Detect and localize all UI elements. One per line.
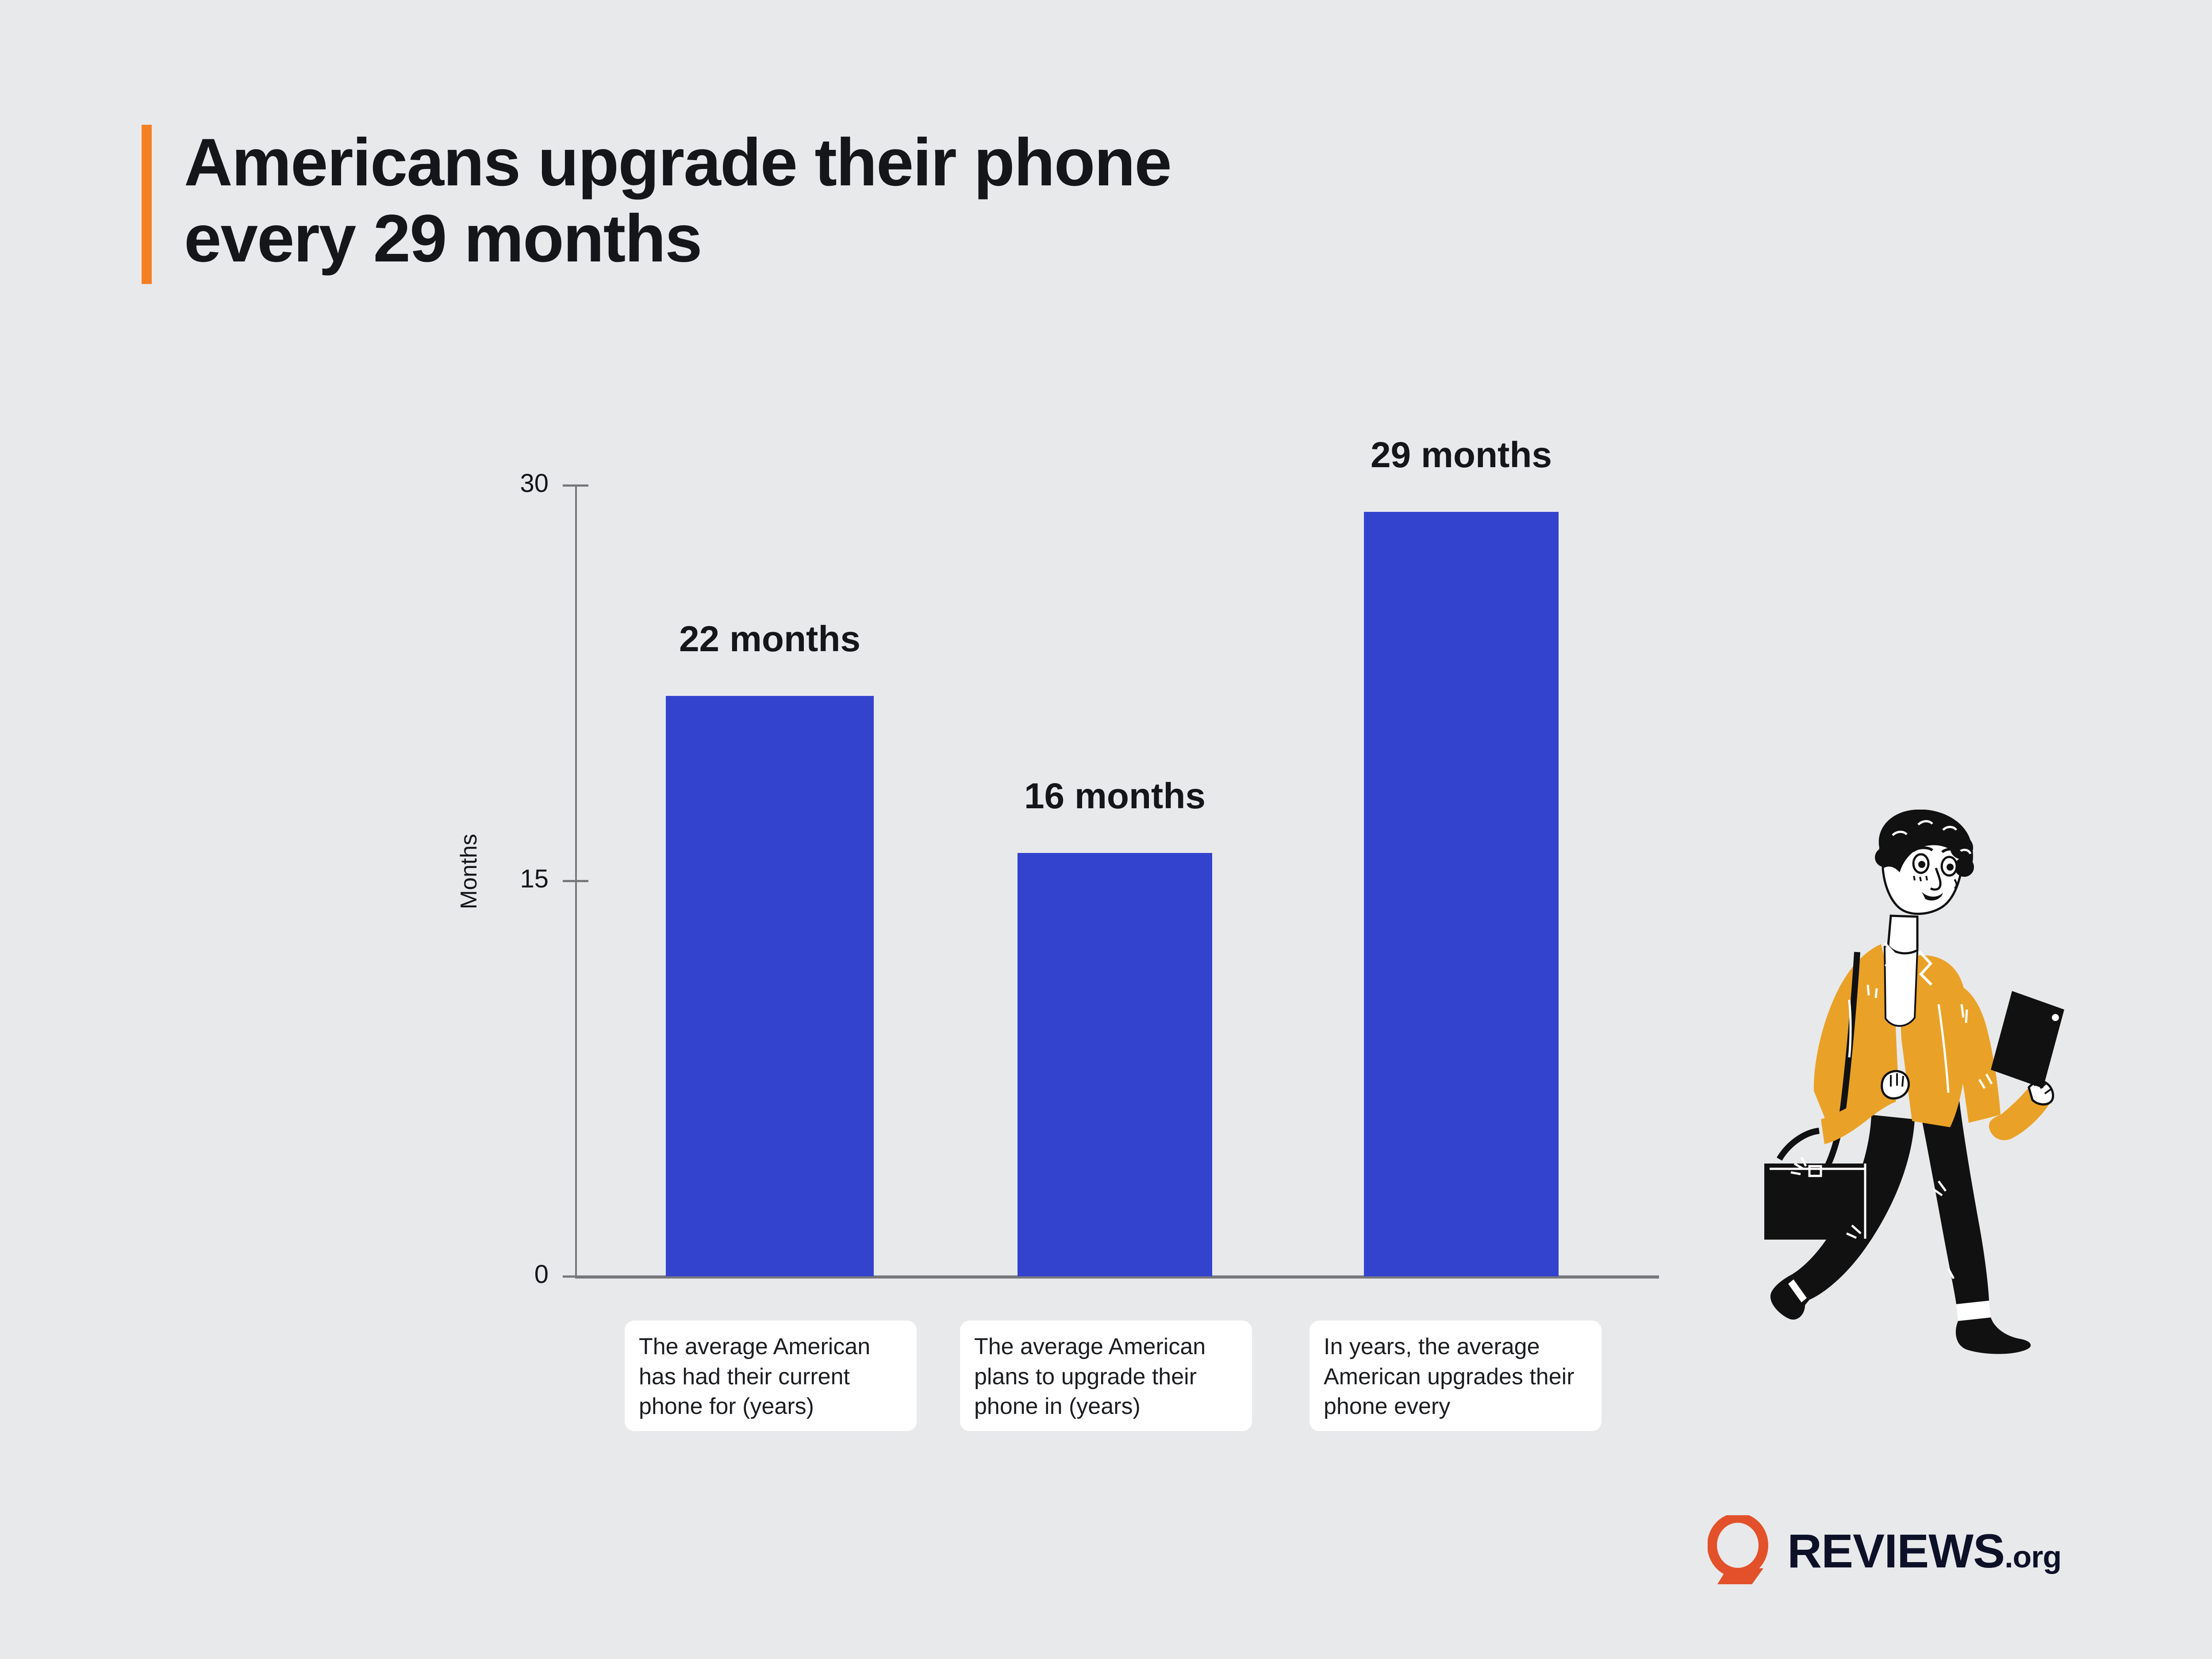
logo-q-mark [1708, 1515, 1774, 1586]
bar-3[interactable] [1364, 512, 1559, 1276]
person-with-phone-illustration [1739, 810, 2075, 1365]
logo-reviews-text: REVIEWS [1787, 1523, 2005, 1578]
y-tick-label-0: 0 [460, 1260, 549, 1289]
bar-1-value-label: 22 months [637, 618, 902, 660]
bar-2-category-label: The average American plans to upgrade th… [960, 1321, 1252, 1431]
y-tick-mark-15 [563, 880, 588, 882]
bar-3-value-label: 29 months [1329, 434, 1594, 476]
bar-2-value-label: 16 months [982, 776, 1248, 817]
bar-1-category-label: The average American has had their curre… [625, 1321, 917, 1431]
logo-org-text: .org [2005, 1539, 2061, 1575]
logo-wordmark: REVIEWS .org [1787, 1523, 2061, 1578]
bar-1[interactable] [666, 696, 874, 1276]
bar-3-category-label: In years, the average American upgrades … [1310, 1321, 1601, 1431]
y-axis-title: Months [456, 827, 482, 916]
y-tick-mark-0 [563, 1275, 588, 1278]
bar-2[interactable] [1018, 853, 1212, 1276]
reviews-org-logo[interactable]: REVIEWS .org [1708, 1515, 2061, 1586]
y-tick-mark-30 [563, 484, 588, 487]
y-tick-label-30: 30 [460, 469, 549, 498]
